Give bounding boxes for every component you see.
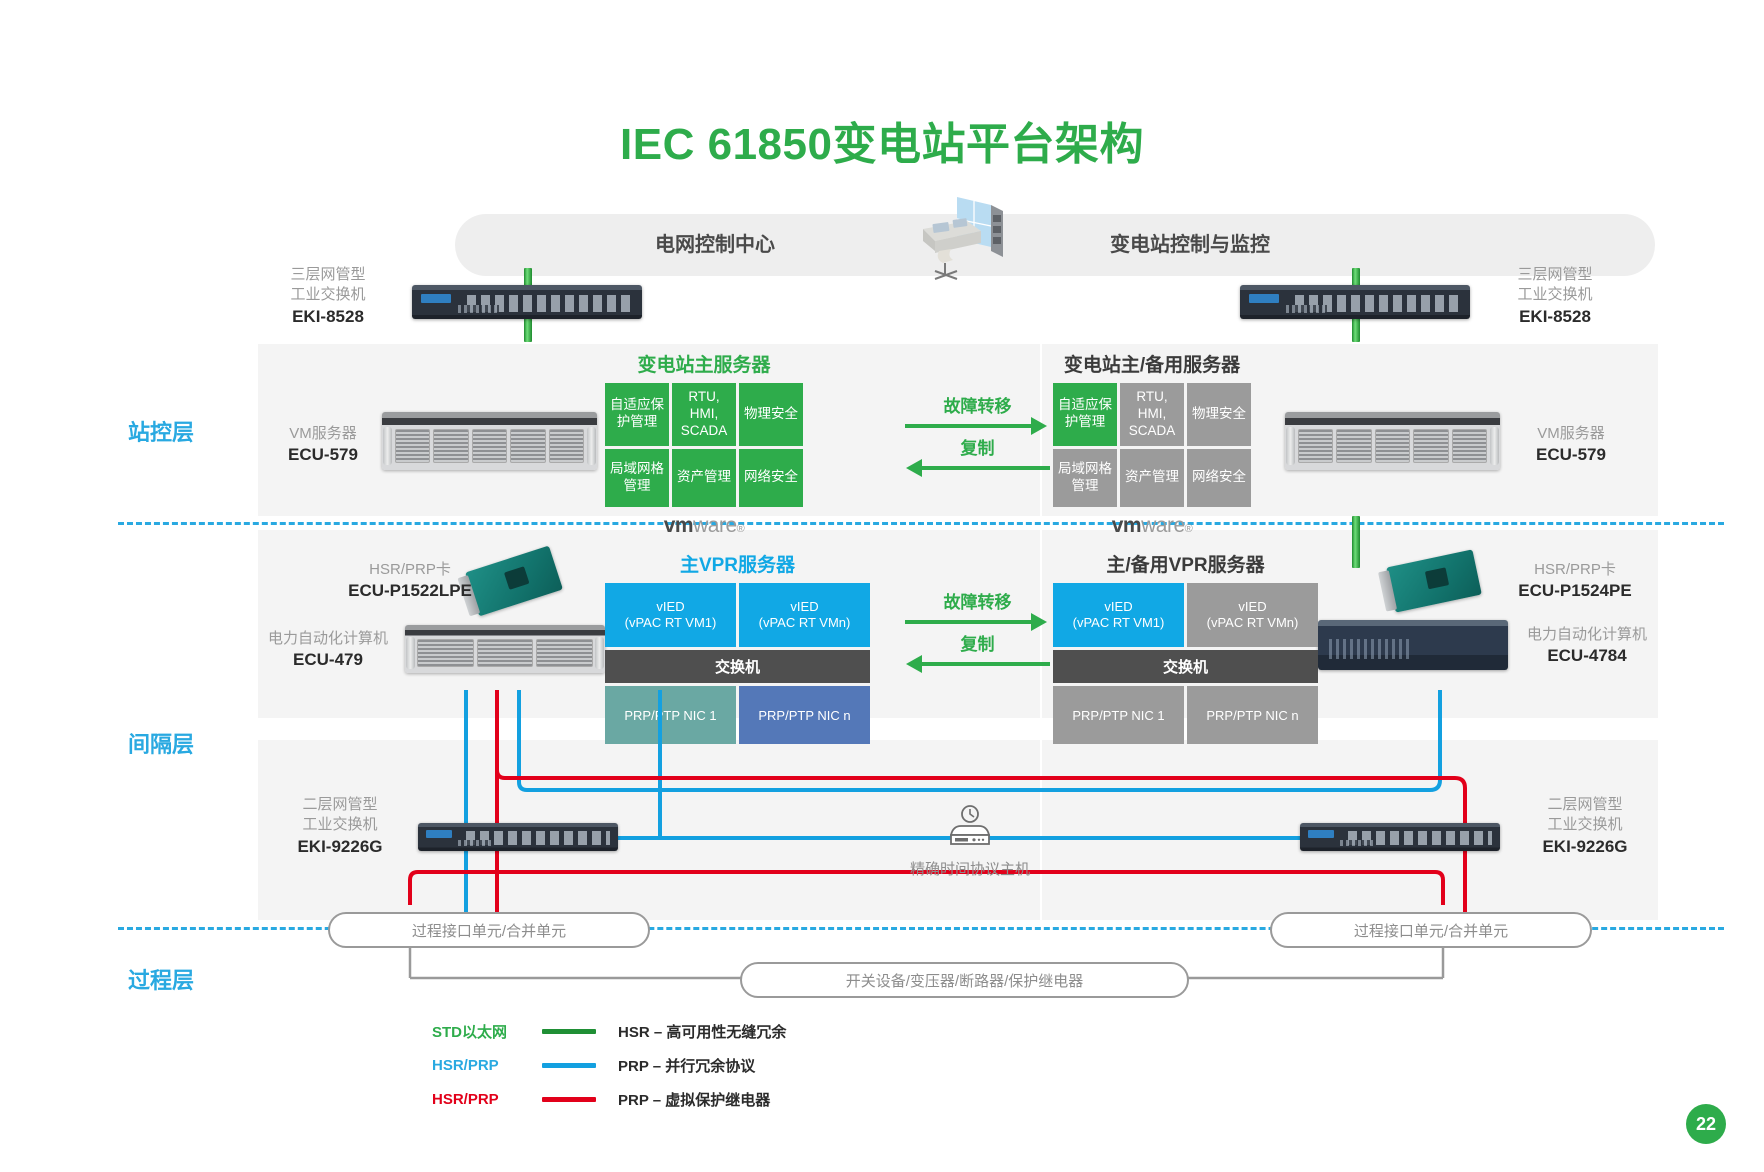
arrow-line-failover: [905, 424, 1033, 428]
layer-label-process: 过程层: [128, 963, 194, 995]
vied-line-2: (vPAC RT VMn): [759, 615, 851, 630]
vied-cell[interactable]: vIED(vPAC RT VMn): [1187, 583, 1318, 647]
drive-bays: [417, 639, 593, 667]
rack-ear-left: [406, 637, 415, 669]
pcb-chip: [1425, 567, 1449, 589]
device-label-auto-pc-left: 电力自动化计算机 ECU-479: [258, 629, 398, 672]
legend-row: STD以太网 HSR – 高可用性无缝冗余: [432, 1018, 786, 1044]
vied-cell[interactable]: vIED(vPAC RT VM1): [1053, 583, 1184, 647]
vied-line-1: vIED: [790, 599, 818, 614]
pcb-chip: [504, 566, 530, 590]
arrow-label-failover: 故障转移: [905, 588, 1050, 613]
legend-tag: HSR/PRP: [432, 1091, 532, 1108]
nic-grid: PRP/PTP NIC 1 PRP/PTP NIC n: [605, 686, 870, 744]
device-label-vm-server-right: VM服务器 ECU-579: [1516, 424, 1626, 467]
legend-text: PRP – 虚拟保护继电器: [618, 1089, 770, 1110]
arrow-label-failover: 故障转移: [905, 392, 1050, 417]
service-cell-grid: 自适应保护管理 RTU, HMI, SCADA 物理安全 局域网格管理 资产管理…: [1053, 383, 1251, 507]
device-label-vm-server-left: VM服务器 ECU-579: [268, 424, 378, 467]
capsule-process-interface-left[interactable]: 过程接口单元/合并单元: [328, 912, 650, 948]
brand-logo-icon: [1249, 294, 1279, 303]
switch-eki9226g-right[interactable]: [1300, 823, 1500, 851]
top-header-bar: [455, 214, 1655, 276]
label-line-2: 工业交换机: [1520, 815, 1650, 835]
label-line-1: 三层网管型: [1495, 265, 1615, 285]
nic-cell[interactable]: PRP/PTP NIC n: [739, 686, 870, 744]
service-cell[interactable]: 局域网格管理: [1053, 449, 1117, 507]
label-line-1: 电力自动化计算机: [1512, 625, 1662, 645]
nic-cell[interactable]: PRP/PTP NIC 1: [605, 686, 736, 744]
label-line-1: VM服务器: [1516, 424, 1626, 444]
capsule-process-interface-right[interactable]: 过程接口单元/合并单元: [1270, 912, 1592, 948]
device-label-switch-l2-left: 二层网管型 工业交换机 EKI-9226G: [275, 795, 405, 858]
brand-logo-icon: [426, 830, 452, 837]
legend-text: HSR – 高可用性无缝冗余: [618, 1021, 786, 1042]
label-line-2: 工业交换机: [1495, 285, 1615, 305]
service-cell-grid: 自适应保护管理 RTU, HMI, SCADA 物理安全 局域网格管理 资产管理…: [605, 383, 803, 507]
nic-cell[interactable]: PRP/PTP NIC 1: [1053, 686, 1184, 744]
label-model: ECU-579: [1516, 444, 1626, 467]
service-cell[interactable]: 物理安全: [1187, 383, 1251, 446]
panel-title: 主/备用VPR服务器: [1053, 550, 1318, 577]
brand-logo-icon: [1308, 830, 1334, 837]
arrow-head-right: [1031, 417, 1047, 435]
arrow-line-failover: [905, 620, 1033, 624]
device-label-hsr-card-right: HSR/PRP卡 ECU-P1524PE: [1500, 560, 1650, 603]
label-model: EKI-9226G: [275, 836, 405, 859]
service-cell[interactable]: 物理安全: [739, 383, 803, 446]
service-cell[interactable]: 资产管理: [672, 449, 736, 507]
vied-grid: vIED(vPAC RT VM1) vIED(vPAC RT VMn): [1053, 583, 1318, 647]
nic-cell[interactable]: PRP/PTP NIC n: [1187, 686, 1318, 744]
legend-row: HSR/PRP PRP – 虚拟保护继电器: [432, 1086, 786, 1112]
rack-server-ecu579-right[interactable]: [1285, 412, 1500, 470]
label-line-1: 二层网管型: [1520, 795, 1650, 815]
vied-line-2: (vPAC RT VM1): [625, 615, 717, 630]
panel-vpr-primary: 主VPR服务器 vIED(vPAC RT VM1) vIED(vPAC RT V…: [605, 550, 870, 744]
switch-eki8528-right[interactable]: [1240, 285, 1470, 319]
label-model: ECU-P1524PE: [1500, 580, 1650, 603]
device-label-switch-l2-right: 二层网管型 工业交换机 EKI-9226G: [1520, 795, 1650, 858]
top-bar-label-grid-control-center: 电网控制中心: [655, 228, 775, 257]
label-line-1: HSR/PRP卡: [1500, 560, 1650, 580]
panel-vpr-standby: 主/备用VPR服务器 vIED(vPAC RT VM1) vIED(vPAC R…: [1053, 550, 1318, 744]
arrow-label-replication: 复制: [905, 434, 1050, 459]
service-cell[interactable]: 资产管理: [1120, 449, 1184, 507]
switch-eki8528-left[interactable]: [412, 285, 642, 319]
arrow-head-left: [906, 459, 922, 477]
legend-swatch-green: [542, 1029, 596, 1034]
legend-swatch-red: [542, 1097, 596, 1102]
rack-ear-right: [595, 637, 604, 669]
legend-tag: HSR/PRP: [432, 1057, 532, 1074]
green-link-right-mid: [1352, 516, 1360, 568]
drive-bays: [395, 429, 584, 463]
device-label-switch-l3-right: 三层网管型 工业交换机 EKI-8528: [1495, 265, 1615, 328]
service-cell[interactable]: 自适应保护管理: [605, 383, 669, 446]
vied-line-2: (vPAC RT VMn): [1207, 615, 1299, 630]
label-line-1: 二层网管型: [275, 795, 405, 815]
label-model: ECU-579: [268, 444, 378, 467]
arrows-station-failover: 故障转移 复制: [905, 392, 1050, 472]
arrow-head-right: [1031, 613, 1047, 631]
device-label-switch-l3-left: 三层网管型 工业交换机 EKI-8528: [268, 265, 388, 328]
vpr-switch-bar: 交换机: [605, 650, 870, 683]
port-array-small: [1340, 840, 1376, 846]
legend: STD以太网 HSR – 高可用性无缝冗余 HSR/PRP PRP – 并行冗余…: [432, 1018, 786, 1120]
port-array-small: [1286, 305, 1327, 312]
switch-eki9226g-left[interactable]: [418, 823, 618, 851]
port-array-small: [458, 305, 499, 312]
ptp-master-label: 精确时间协议主机: [875, 858, 1065, 879]
label-line-1: 三层网管型: [268, 265, 388, 285]
service-cell[interactable]: 局域网格管理: [605, 449, 669, 507]
rack-server-ecu4784[interactable]: [1318, 620, 1508, 670]
brand-logo-icon: [421, 294, 451, 303]
vied-line-2: (vPAC RT VM1): [1073, 615, 1165, 630]
slide-canvas: IEC 61850变电站平台架构 站控层 间隔层 过程层 电网控制中心 变电站控…: [0, 0, 1764, 1172]
vmware-logo: vmware®: [605, 514, 803, 538]
page-title: IEC 61850变电站平台架构: [0, 108, 1764, 172]
vied-cell[interactable]: vIED(vPAC RT VM1): [605, 583, 736, 647]
label-model: ECU-4784: [1512, 645, 1662, 668]
panel-title: 变电站主服务器: [605, 350, 803, 377]
label-model: EKI-8528: [268, 306, 388, 329]
vmware-logo: vmware®: [1053, 514, 1251, 538]
rack-server-ecu479[interactable]: [405, 625, 605, 673]
service-cell[interactable]: RTU, HMI, SCADA: [672, 383, 736, 446]
arrow-head-left: [906, 655, 922, 673]
label-model: EKI-8528: [1495, 306, 1615, 329]
service-cell[interactable]: 自适应保护管理: [1053, 383, 1117, 446]
rack-server-ecu579-left[interactable]: [382, 412, 597, 470]
layer-separator-station-bay: [118, 522, 1724, 525]
legend-swatch-blue: [542, 1063, 596, 1068]
rack-ear-left: [1286, 427, 1295, 465]
layer-label-bay: 间隔层: [128, 727, 194, 759]
panel-title: 变电站主/备用服务器: [1053, 350, 1251, 377]
top-bar-label-substation-control: 变电站控制与监控: [1110, 228, 1270, 257]
arrow-line-replication: [922, 466, 1050, 470]
device-label-auto-pc-right: 电力自动化计算机 ECU-4784: [1512, 625, 1662, 668]
drive-bays: [1298, 429, 1487, 463]
port-array-small: [458, 840, 494, 846]
legend-tag: STD以太网: [432, 1021, 532, 1042]
arrow-label-replication: 复制: [905, 630, 1050, 655]
service-cell[interactable]: RTU, HMI, SCADA: [1120, 383, 1184, 446]
capsule-switchgear[interactable]: 开关设备/变压器/断路器/保护继电器: [740, 962, 1189, 998]
label-model: ECU-479: [258, 649, 398, 672]
device-label-hsr-card-left: HSR/PRP卡 ECU-P1522LPE: [330, 560, 490, 603]
label-model: EKI-9226G: [1520, 836, 1650, 859]
label-line-1: VM服务器: [268, 424, 378, 444]
legend-text: PRP – 并行冗余协议: [618, 1055, 755, 1076]
vied-line-1: vIED: [1104, 599, 1132, 614]
layer-label-station: 站控层: [128, 415, 194, 447]
panel-substation-standby-server: 变电站主/备用服务器 自适应保护管理 RTU, HMI, SCADA 物理安全 …: [1053, 350, 1251, 538]
label-model: ECU-P1522LPE: [330, 580, 490, 603]
vpr-switch-bar: 交换机: [1053, 650, 1318, 683]
vied-line-1: vIED: [1238, 599, 1266, 614]
service-cell[interactable]: 网络安全: [1187, 449, 1251, 507]
panel-title: 主VPR服务器: [605, 550, 870, 577]
clock-server-icon: [937, 805, 1003, 849]
rack-ear-left: [383, 427, 392, 465]
arrow-line-replication: [922, 662, 1050, 666]
control-room-icon: [905, 195, 1015, 285]
legend-row: HSR/PRP PRP – 并行冗余协议: [432, 1052, 786, 1078]
status-led-array: [1329, 639, 1409, 659]
vied-grid: vIED(vPAC RT VM1) vIED(vPAC RT VMn): [605, 583, 870, 647]
arrows-bay-failover: 故障转移 复制: [905, 588, 1050, 668]
vied-cell[interactable]: vIED(vPAC RT VMn): [739, 583, 870, 647]
label-line-2: 工业交换机: [268, 285, 388, 305]
label-line-1: 电力自动化计算机: [258, 629, 398, 649]
label-line-2: 工业交换机: [275, 815, 405, 835]
ptp-master-node[interactable]: 精确时间协议主机: [875, 805, 1065, 879]
rack-ear-right: [587, 427, 596, 465]
label-line-1: HSR/PRP卡: [330, 560, 490, 580]
vied-line-1: vIED: [656, 599, 684, 614]
service-cell[interactable]: 网络安全: [739, 449, 803, 507]
panel-substation-primary-server: 变电站主服务器 自适应保护管理 RTU, HMI, SCADA 物理安全 局域网…: [605, 350, 803, 538]
page-number-badge: 22: [1686, 1104, 1726, 1144]
nic-grid: PRP/PTP NIC 1 PRP/PTP NIC n: [1053, 686, 1318, 744]
rack-ear-right: [1490, 427, 1499, 465]
